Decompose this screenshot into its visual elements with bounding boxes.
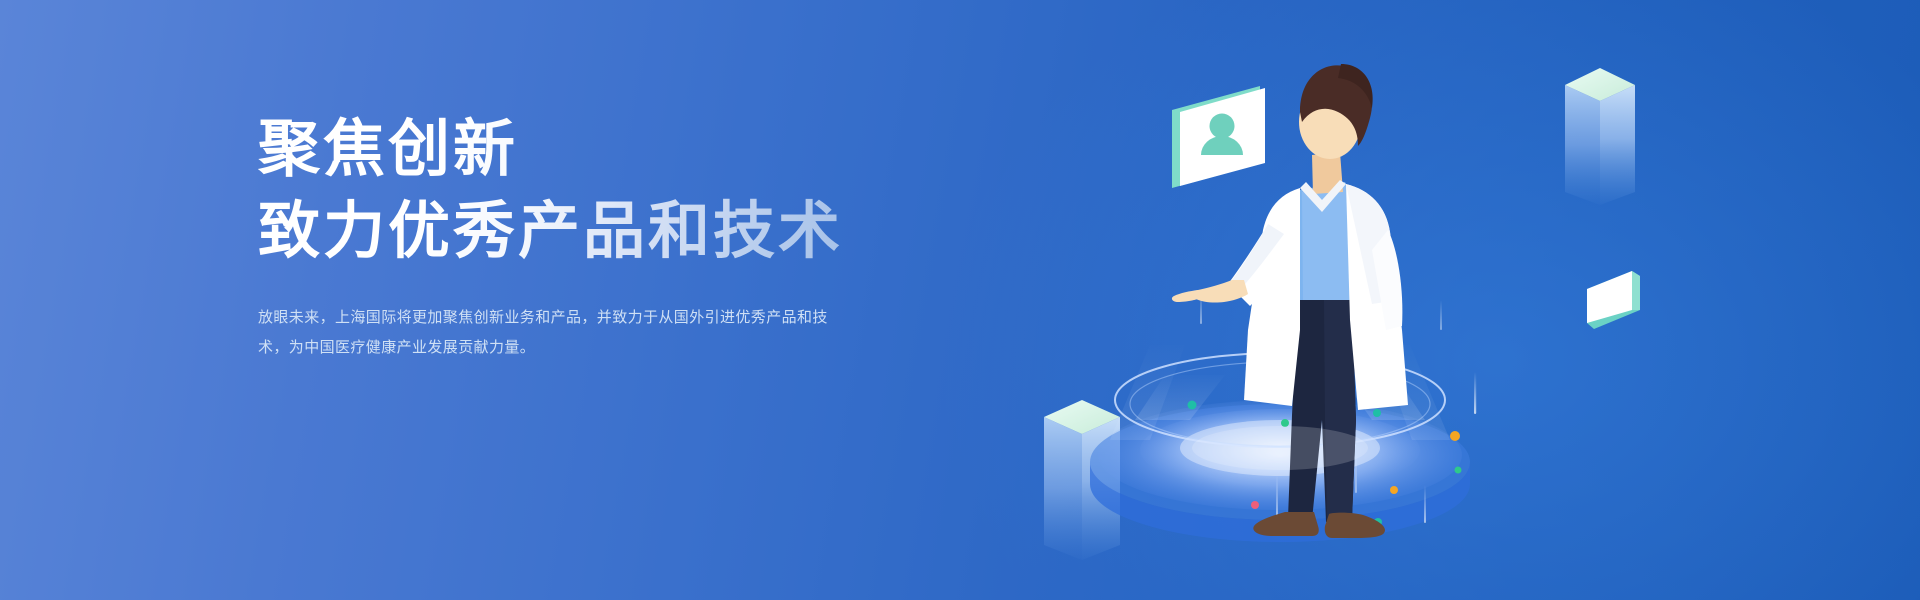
particle-dot — [1251, 501, 1259, 509]
headline-line-1: 聚焦创新 — [258, 112, 898, 188]
particle-dot — [1373, 409, 1381, 417]
particle-dot — [1374, 518, 1382, 526]
hero-subtitle: 放眼未来，上海国际将更加聚焦创新业务和产品，并致力于从国外引进优秀产品和技术，为… — [258, 303, 858, 362]
particle-dot — [1450, 431, 1460, 441]
particle-dot — [1296, 433, 1304, 441]
doctor-figure-icon — [1172, 64, 1408, 538]
hero-banner: 聚焦创新 致力优秀产品和技术 放眼未来，上海国际将更加聚焦创新业务和产品，并致力… — [0, 0, 1920, 600]
particle-dot — [1390, 486, 1398, 494]
particle-dot — [1377, 342, 1384, 349]
floating-bar-left-icon — [1044, 400, 1120, 560]
floating-card-right-icon — [1587, 271, 1640, 329]
floating-bar-right-icon — [1565, 68, 1635, 205]
particle-dot — [1455, 467, 1462, 474]
headline-line-2: 致力优秀产品和技术 — [258, 194, 898, 270]
particle-dot — [1188, 401, 1197, 410]
particle-dot — [1281, 419, 1289, 427]
user-avatar-card-icon — [1172, 86, 1265, 188]
holographic-platform-icon — [1090, 290, 1476, 542]
hero-copy: 聚焦创新 致力优秀产品和技术 放眼未来，上海国际将更加聚焦创新业务和产品，并致力… — [258, 112, 898, 362]
